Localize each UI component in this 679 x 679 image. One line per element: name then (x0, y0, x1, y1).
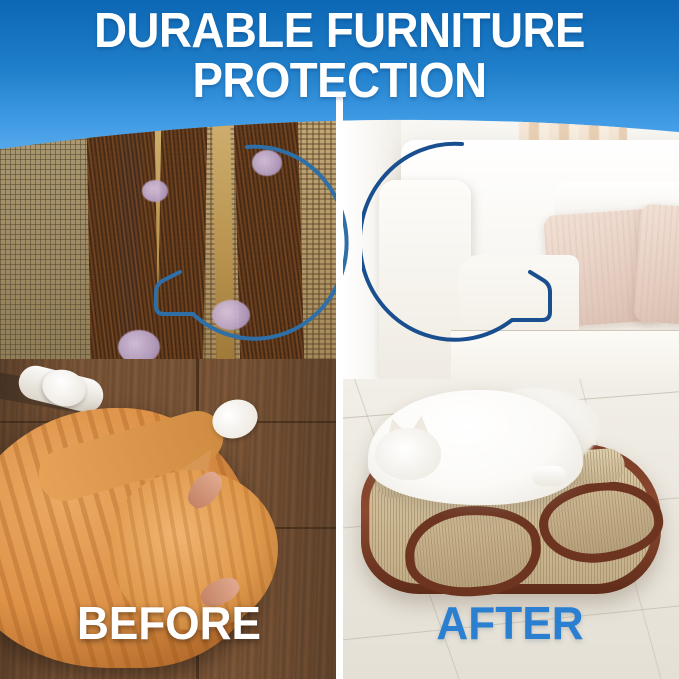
headline-line-2: PROTECTION (24, 56, 655, 106)
cat-paw (532, 466, 566, 486)
torn-stuffing (142, 180, 168, 202)
after-label: AFTER (348, 596, 672, 650)
headline-line-1: DURABLE FURNITURE (94, 4, 585, 58)
throw-pillow (633, 203, 679, 326)
before-label: BEFORE (7, 596, 331, 650)
page-title: DURABLE FURNITURE PROTECTION (24, 6, 655, 106)
torn-stuffing (212, 300, 250, 330)
promo-image: DURABLE FURNITURE PROTECTION (0, 0, 679, 679)
panel-divider (336, 96, 343, 679)
torn-stuffing (252, 150, 282, 176)
white-cat-head (375, 428, 441, 480)
